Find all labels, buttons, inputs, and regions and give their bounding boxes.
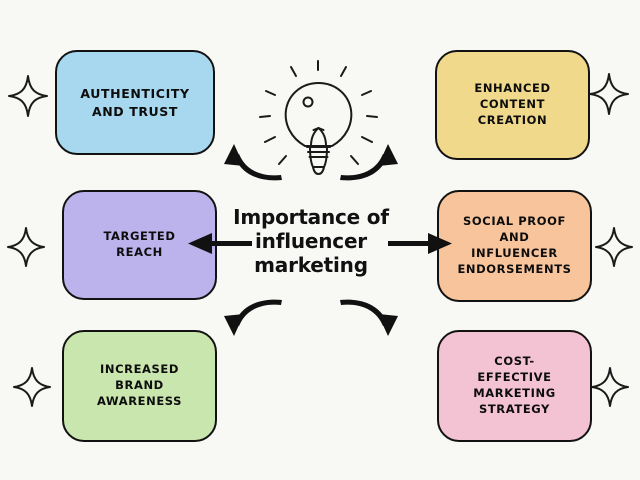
concept-box-label: AUTHENTICITY AND TRUST: [80, 85, 189, 120]
concept-box-increased-brand-awareness[interactable]: INCREASED BRAND AWARENESS: [62, 330, 217, 442]
sparkle-icon-bottom-left: [14, 368, 50, 406]
arrow-down-right: [340, 300, 398, 336]
concept-box-cost-effective-strategy[interactable]: COST- EFFECTIVE MARKETING STRATEGY: [437, 330, 592, 442]
sparkle-icon-top-left: [9, 76, 47, 116]
concept-box-authenticity[interactable]: AUTHENTICITY AND TRUST: [55, 50, 215, 155]
arrow-up-right: [340, 144, 398, 180]
concept-box-targeted-reach[interactable]: TARGETED REACH: [62, 190, 217, 300]
concept-box-label: INCREASED BRAND AWARENESS: [97, 362, 182, 410]
sparkle-icon-top-right: [590, 74, 628, 114]
center-title: Importance of influencer marketing: [218, 198, 404, 284]
concept-box-label: SOCIAL PROOF AND INFLUENCER ENDORSEMENTS: [457, 214, 571, 277]
concept-box-social-proof[interactable]: SOCIAL PROOF AND INFLUENCER ENDORSEMENTS: [437, 190, 592, 302]
concept-box-enhanced-content[interactable]: ENHANCED CONTENT CREATION: [435, 50, 590, 160]
sparkle-icon-bottom-right: [592, 368, 628, 406]
infographic-canvas: AUTHENTICITY AND TRUST ENHANCED CONTENT …: [0, 0, 640, 480]
concept-box-label: TARGETED REACH: [103, 229, 175, 261]
arrow-down-left: [224, 300, 282, 336]
sparkle-icon-middle-right: [596, 228, 632, 266]
lightbulb-icon: [260, 61, 377, 174]
concept-box-label: COST- EFFECTIVE MARKETING STRATEGY: [473, 354, 556, 417]
arrow-up-left: [224, 144, 282, 180]
concept-box-label: ENHANCED CONTENT CREATION: [474, 81, 550, 129]
sparkle-icon-middle-left: [8, 228, 44, 266]
